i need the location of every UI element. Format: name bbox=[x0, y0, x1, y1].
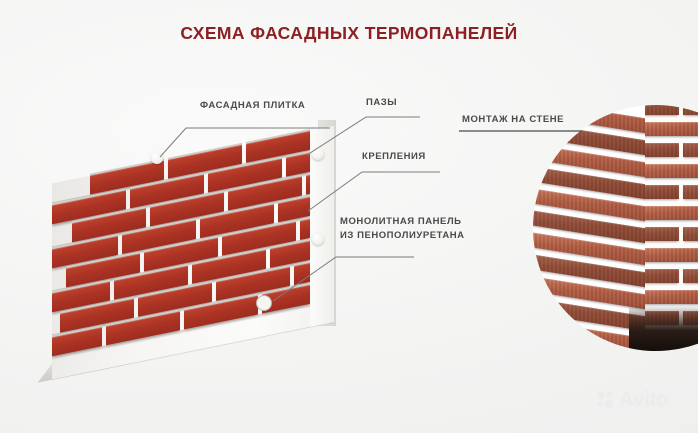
fastener-stud-top bbox=[312, 148, 324, 160]
wall-brick bbox=[645, 269, 679, 283]
facade-tile bbox=[306, 175, 310, 195]
callout-label-monolithic-panel-line2: ИЗ ПЕНОПОЛИУРЕТАНА bbox=[340, 229, 465, 243]
callout-label-monolithic-panel-line1: МОНОЛИТНАЯ ПАНЕЛЬ bbox=[340, 215, 465, 229]
wall-brick bbox=[645, 206, 698, 220]
wall-brick bbox=[683, 143, 698, 157]
infographic-canvas: СХЕМА ФАСАДНЫХ ТЕРМОПАНЕЛЕЙ bbox=[0, 0, 698, 433]
avito-watermark-text: Avito bbox=[619, 389, 668, 410]
wall-brick bbox=[683, 269, 698, 283]
callout-label-fasteners: КРЕПЛЕНИЯ bbox=[362, 150, 426, 163]
facade-tile bbox=[294, 263, 310, 285]
facade-tile bbox=[300, 219, 310, 240]
panel-brick-layer bbox=[52, 126, 334, 379]
wall-brick bbox=[645, 185, 679, 199]
avito-watermark: Avito bbox=[596, 389, 668, 410]
wall-brick bbox=[645, 122, 698, 136]
callout-label-wall-mounting: МОНТАЖ НА СТЕНЕ bbox=[462, 113, 564, 126]
page-title: СХЕМА ФАСАДНЫХ ТЕРМОПАНЕЛЕЙ bbox=[0, 23, 698, 44]
wall-brick bbox=[645, 164, 698, 178]
wall-brick bbox=[683, 227, 698, 241]
callout-label-facade-tile: ФАСАДНАЯ ПЛИТКА bbox=[200, 99, 305, 112]
wall-brick bbox=[645, 227, 679, 241]
thermal-panel-illustration bbox=[30, 120, 350, 350]
tile-marker-dot bbox=[151, 152, 163, 164]
wall-installation-photo bbox=[533, 105, 698, 351]
fastener-hole-bottom bbox=[256, 295, 272, 311]
wall-brick bbox=[645, 105, 679, 115]
wall-photo-content bbox=[533, 105, 698, 351]
wall-brick bbox=[683, 105, 698, 115]
wall-brick bbox=[645, 143, 679, 157]
fastener-stud-middle bbox=[312, 233, 324, 245]
wall-brick bbox=[683, 185, 698, 199]
wall-photo-shadow bbox=[629, 305, 698, 351]
wall-brick bbox=[645, 290, 698, 304]
avito-logo-icon bbox=[596, 390, 616, 410]
wall-brick bbox=[645, 248, 698, 262]
callout-label-grooves: ПАЗЫ bbox=[366, 96, 397, 109]
callout-label-monolithic-panel: МОНОЛИТНАЯ ПАНЕЛЬ ИЗ ПЕНОПОЛИУРЕТАНА bbox=[340, 215, 465, 242]
